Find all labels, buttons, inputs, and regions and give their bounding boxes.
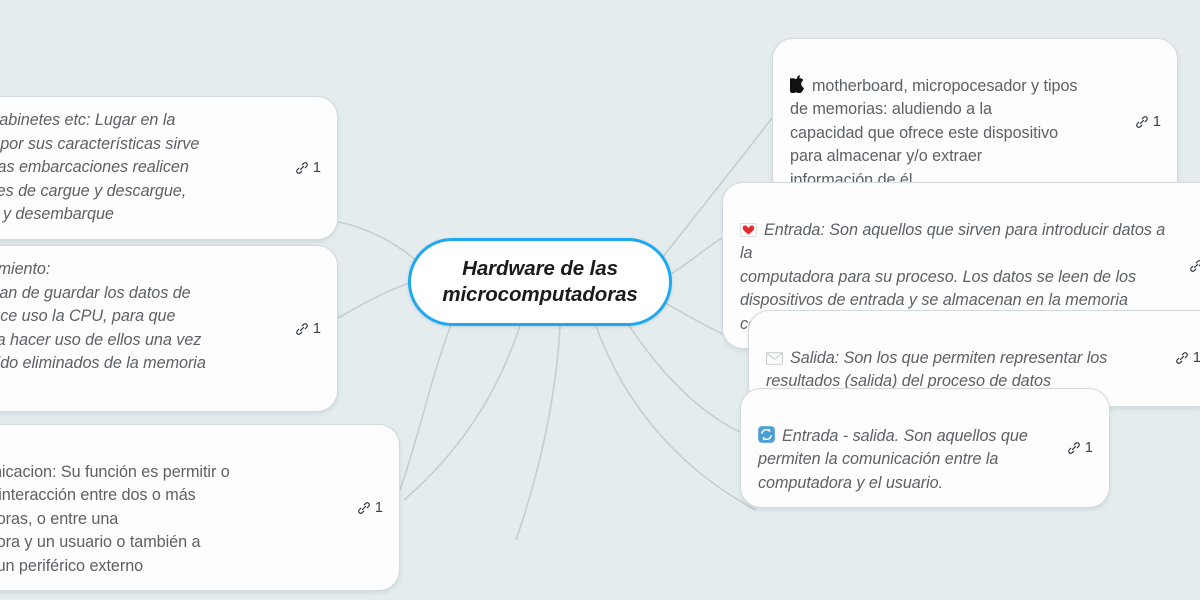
branch-node-text: Salida: Son los que permiten representar… xyxy=(766,323,1161,394)
connector-extra-1 xyxy=(516,326,560,540)
branch-node-puertos[interactable]: Puertos, gabinetes etc: Lugar en la cost… xyxy=(0,96,338,240)
link-icon xyxy=(1135,115,1149,129)
branch-node-comunicacion[interactable]: Comunicacion: Su función es permitir o f… xyxy=(0,424,400,591)
envelope-icon xyxy=(766,352,783,365)
link-badge[interactable]: 1 xyxy=(295,321,321,337)
branch-node-text: Comunicacion: Su función es permitir o f… xyxy=(0,437,343,578)
link-count: 1 xyxy=(1153,114,1161,130)
heart-icon xyxy=(740,223,757,237)
link-icon xyxy=(1175,351,1189,365)
connector-comunicacion xyxy=(400,322,452,490)
connector-puertos xyxy=(338,222,418,262)
connector-extra-2 xyxy=(404,326,520,500)
branch-node-text: Entrada - salida. Son aquellos que permi… xyxy=(758,401,1053,495)
mindmap-canvas[interactable]: Hardware de las microcomputadoras Puerto… xyxy=(0,0,1200,600)
link-count: 1 xyxy=(375,500,383,516)
link-badge[interactable]: 1 xyxy=(1189,258,1200,274)
branch-node-text: Almacenamiento: Se encargan de guardar l… xyxy=(0,258,281,399)
link-icon xyxy=(1067,441,1081,455)
branch-node-body: Salida: Son los que permiten representar… xyxy=(766,349,1107,391)
branch-node-body: motherboard, micropocesador y tipos de m… xyxy=(790,77,1077,189)
link-badge[interactable]: 1 xyxy=(1067,440,1093,456)
apple-icon xyxy=(790,75,805,93)
branch-node-body: Comunicacion: Su función es permitir o f… xyxy=(0,463,230,575)
link-icon xyxy=(1189,259,1200,273)
link-count: 1 xyxy=(313,321,321,337)
connector-entrada xyxy=(668,238,722,276)
connector-almacenamiento xyxy=(338,282,412,318)
branch-node-entrada-salida[interactable]: Entrada - salida. Son aquellos que permi… xyxy=(740,388,1110,508)
link-icon xyxy=(295,322,309,336)
link-icon xyxy=(357,501,371,515)
branch-node-almacenamiento[interactable]: Almacenamiento: Se encargan de guardar l… xyxy=(0,245,338,412)
branch-node-body: Entrada - salida. Son aquellos que permi… xyxy=(758,427,1028,492)
central-node[interactable]: Hardware de las microcomputadoras xyxy=(408,238,672,326)
exchange-icon xyxy=(758,426,775,443)
link-badge[interactable]: 1 xyxy=(1175,350,1200,366)
link-badge[interactable]: 1 xyxy=(1135,114,1161,130)
branch-node-motherboard[interactable]: motherboard, micropocesador y tipos de m… xyxy=(772,38,1178,205)
link-count: 1 xyxy=(1193,350,1200,366)
connector-extra-3 xyxy=(596,326,756,510)
branch-node-text: motherboard, micropocesador y tipos de m… xyxy=(790,51,1121,192)
link-badge[interactable]: 1 xyxy=(357,500,383,516)
link-count: 1 xyxy=(313,160,321,176)
link-badge[interactable]: 1 xyxy=(295,160,321,176)
link-count: 1 xyxy=(1085,440,1093,456)
branch-node-text: Puertos, gabinetes etc: Lugar en la cost… xyxy=(0,109,281,227)
link-icon xyxy=(295,161,309,175)
central-node-label: Hardware de las microcomputadoras xyxy=(442,256,637,308)
